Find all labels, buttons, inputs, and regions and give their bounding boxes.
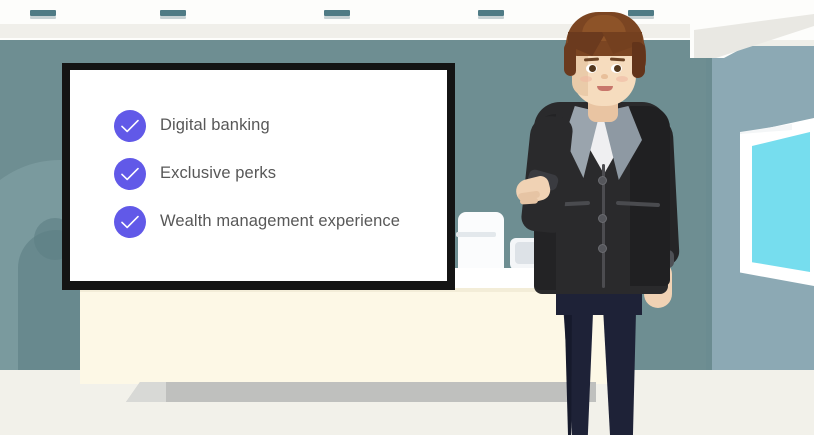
avatar-nose: [601, 74, 608, 79]
bullet-item: Digital banking: [114, 110, 434, 142]
avatar-blush-right: [616, 76, 628, 82]
avatar-blazer-button-2: [598, 214, 607, 223]
avatar-pupil-left: [589, 65, 596, 72]
avatar-mouth: [597, 86, 613, 91]
avatar-blazer-button-1: [598, 176, 607, 185]
window-glass: [752, 132, 810, 272]
bullet-item: Wealth management experience: [114, 206, 434, 238]
whiteboard-face[interactable]: Digital bankingExclusive perksWealth man…: [70, 70, 447, 281]
printer-slot: [456, 232, 496, 237]
scene-root: Digital bankingExclusive perksWealth man…: [0, 0, 814, 435]
check-circle-icon: [114, 158, 146, 190]
bullet-label: Wealth management experience: [160, 206, 400, 232]
ceiling-light-glow-1: [30, 16, 56, 19]
presenter-avatar: [498, 6, 688, 435]
bullet-label: Exclusive perks: [160, 158, 276, 184]
ceiling-light-glow-3: [324, 16, 350, 19]
avatar-hair-side-right: [632, 42, 645, 78]
ceiling-light-glow-2: [160, 16, 186, 19]
whiteboard-bullet-list: Digital bankingExclusive perksWealth man…: [114, 110, 434, 238]
avatar-blush-left: [580, 76, 592, 82]
bullet-item: Exclusive perks: [114, 158, 434, 190]
avatar-pupil-right: [614, 65, 621, 72]
avatar-hair-side-left: [564, 42, 576, 76]
avatar-blazer-button-3: [598, 244, 607, 253]
bullet-label: Digital banking: [160, 110, 270, 136]
avatar-finger-2: [520, 197, 538, 204]
check-circle-icon: [114, 110, 146, 142]
check-circle-icon: [114, 206, 146, 238]
